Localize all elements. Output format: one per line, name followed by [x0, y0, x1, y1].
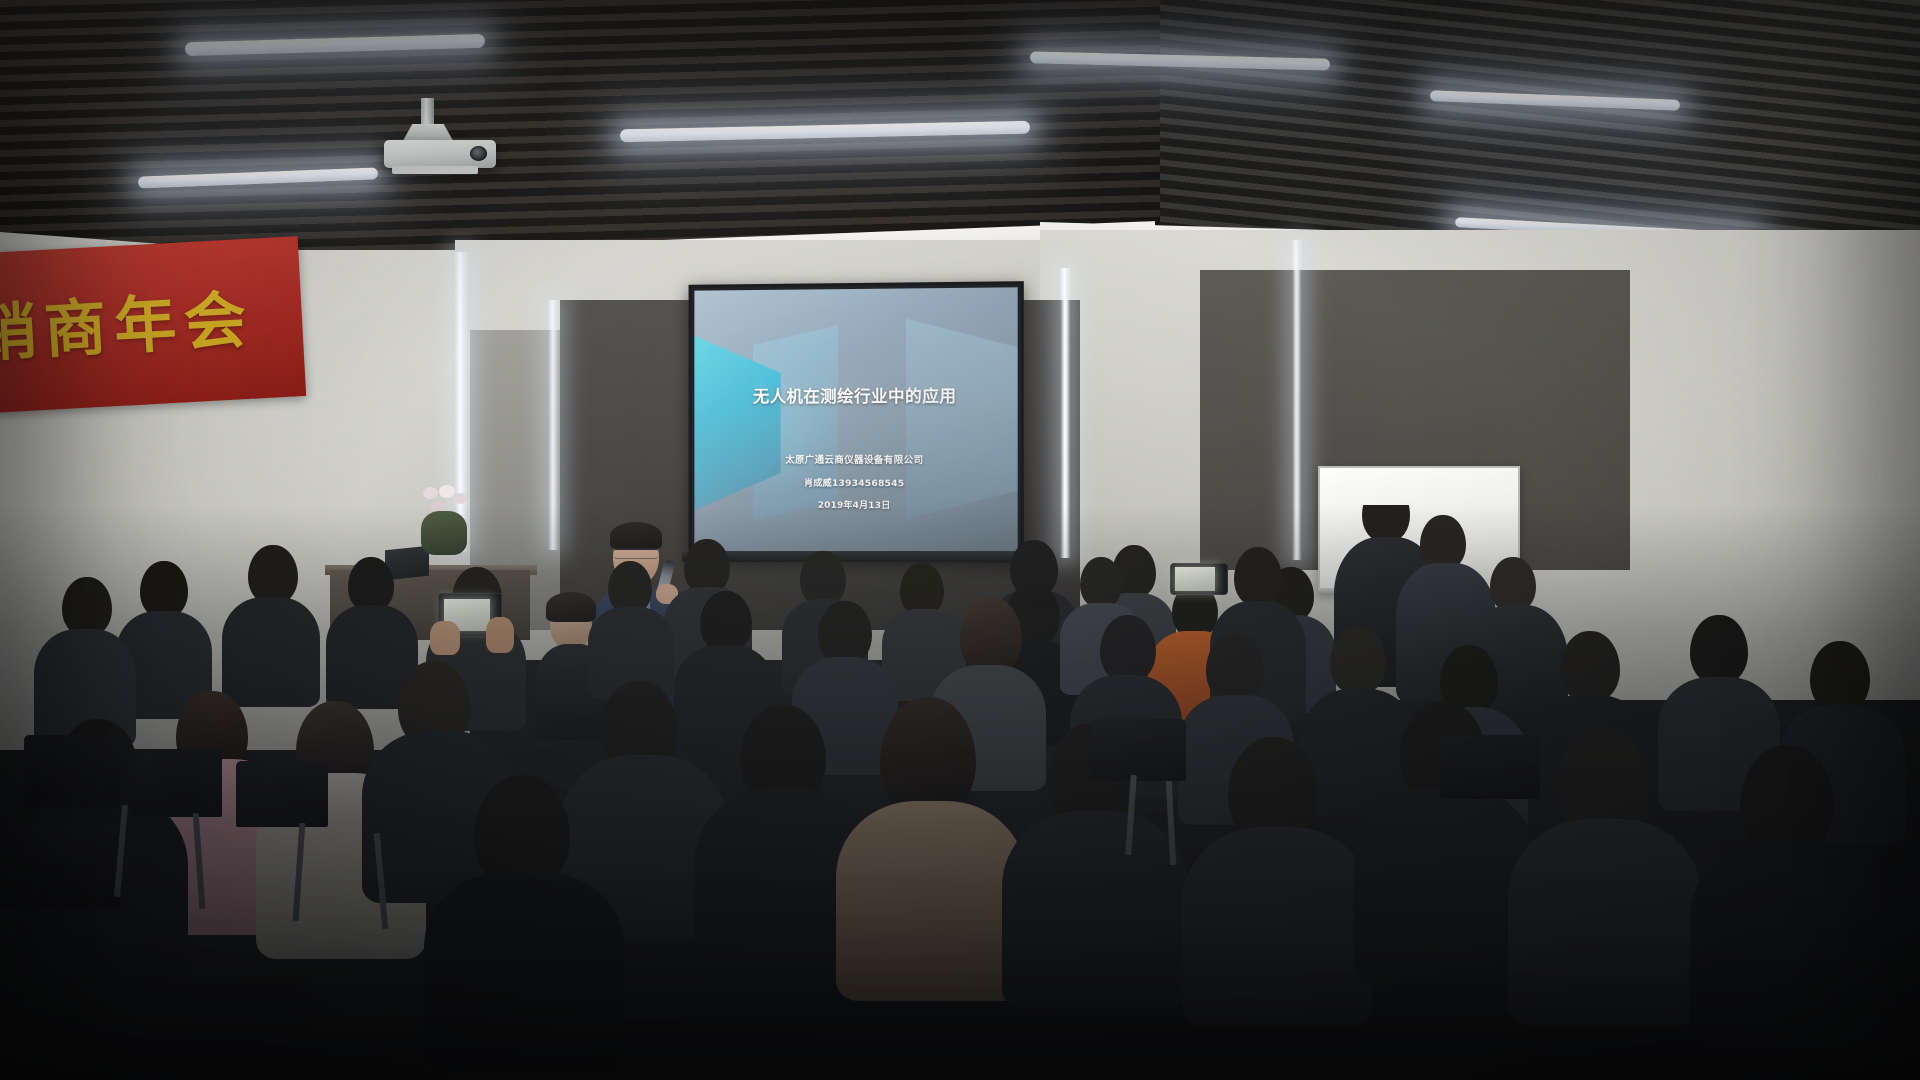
audience-head [1690, 615, 1748, 683]
audience-head [1206, 633, 1264, 701]
chair-back [130, 749, 222, 817]
audience-head-female [960, 597, 1022, 673]
standing-attendee-head [1420, 515, 1466, 569]
red-event-banner: 销商年会 [0, 236, 306, 413]
audience-head [248, 545, 298, 603]
audience-head [348, 557, 394, 611]
chair-back [0, 823, 120, 909]
projector-mount-pole [421, 98, 434, 128]
audience-head [1100, 615, 1156, 681]
photograph-scene: 无人机在测绘行业中的应用 太原广通云商仪器设备有限公司 肖成威139345685… [0, 0, 1920, 1080]
projector-lens [470, 146, 487, 161]
slide-subtitle-presenter-contact: 肖成威13934568545 [694, 474, 1017, 490]
audience-body [222, 597, 320, 707]
audience-head [1560, 631, 1620, 701]
audience-head [1330, 627, 1386, 693]
audience-head [1080, 557, 1122, 607]
audience-head [608, 561, 652, 613]
slide-title: 无人机在测绘行业中的应用 [694, 383, 1017, 408]
projector-foot [392, 166, 478, 174]
standing-attendee-head [1362, 505, 1410, 541]
slide-subtitle-company: 太原广通云商仪器设备有限公司 [694, 452, 1017, 467]
audience-body [1002, 811, 1188, 1009]
audience-head [700, 591, 752, 651]
audience-head [62, 577, 112, 635]
audience-head-female-long-hair [880, 697, 976, 815]
audience-body [1508, 819, 1702, 1025]
banner-text: 销商年会 [0, 265, 306, 373]
flower-petal [453, 493, 467, 504]
audience-head [1810, 641, 1870, 711]
audience-head [900, 563, 944, 615]
phone-recording-right [1170, 563, 1228, 595]
hand-holding-phone [430, 621, 460, 655]
audience-head [140, 561, 188, 617]
chair-back [24, 735, 120, 807]
audience-body [424, 871, 624, 1071]
filming-attendee-head [1234, 547, 1282, 605]
audience-body [1182, 827, 1372, 1027]
audience-body [1690, 839, 1890, 1049]
flower-petal [423, 487, 438, 499]
hand-holding-phone [486, 617, 514, 653]
chair-back [236, 761, 328, 827]
audience-head [818, 601, 872, 663]
standing-attendee-head [1490, 557, 1536, 611]
chair-back [1090, 719, 1186, 781]
audience-head [684, 539, 730, 593]
audience-head [800, 551, 846, 605]
slide-chevron-back [906, 318, 1018, 521]
chair-back [1440, 735, 1540, 799]
phone-screen [1175, 567, 1215, 591]
audience-body-tan [836, 801, 1026, 1001]
seated-audience [0, 505, 1920, 1080]
